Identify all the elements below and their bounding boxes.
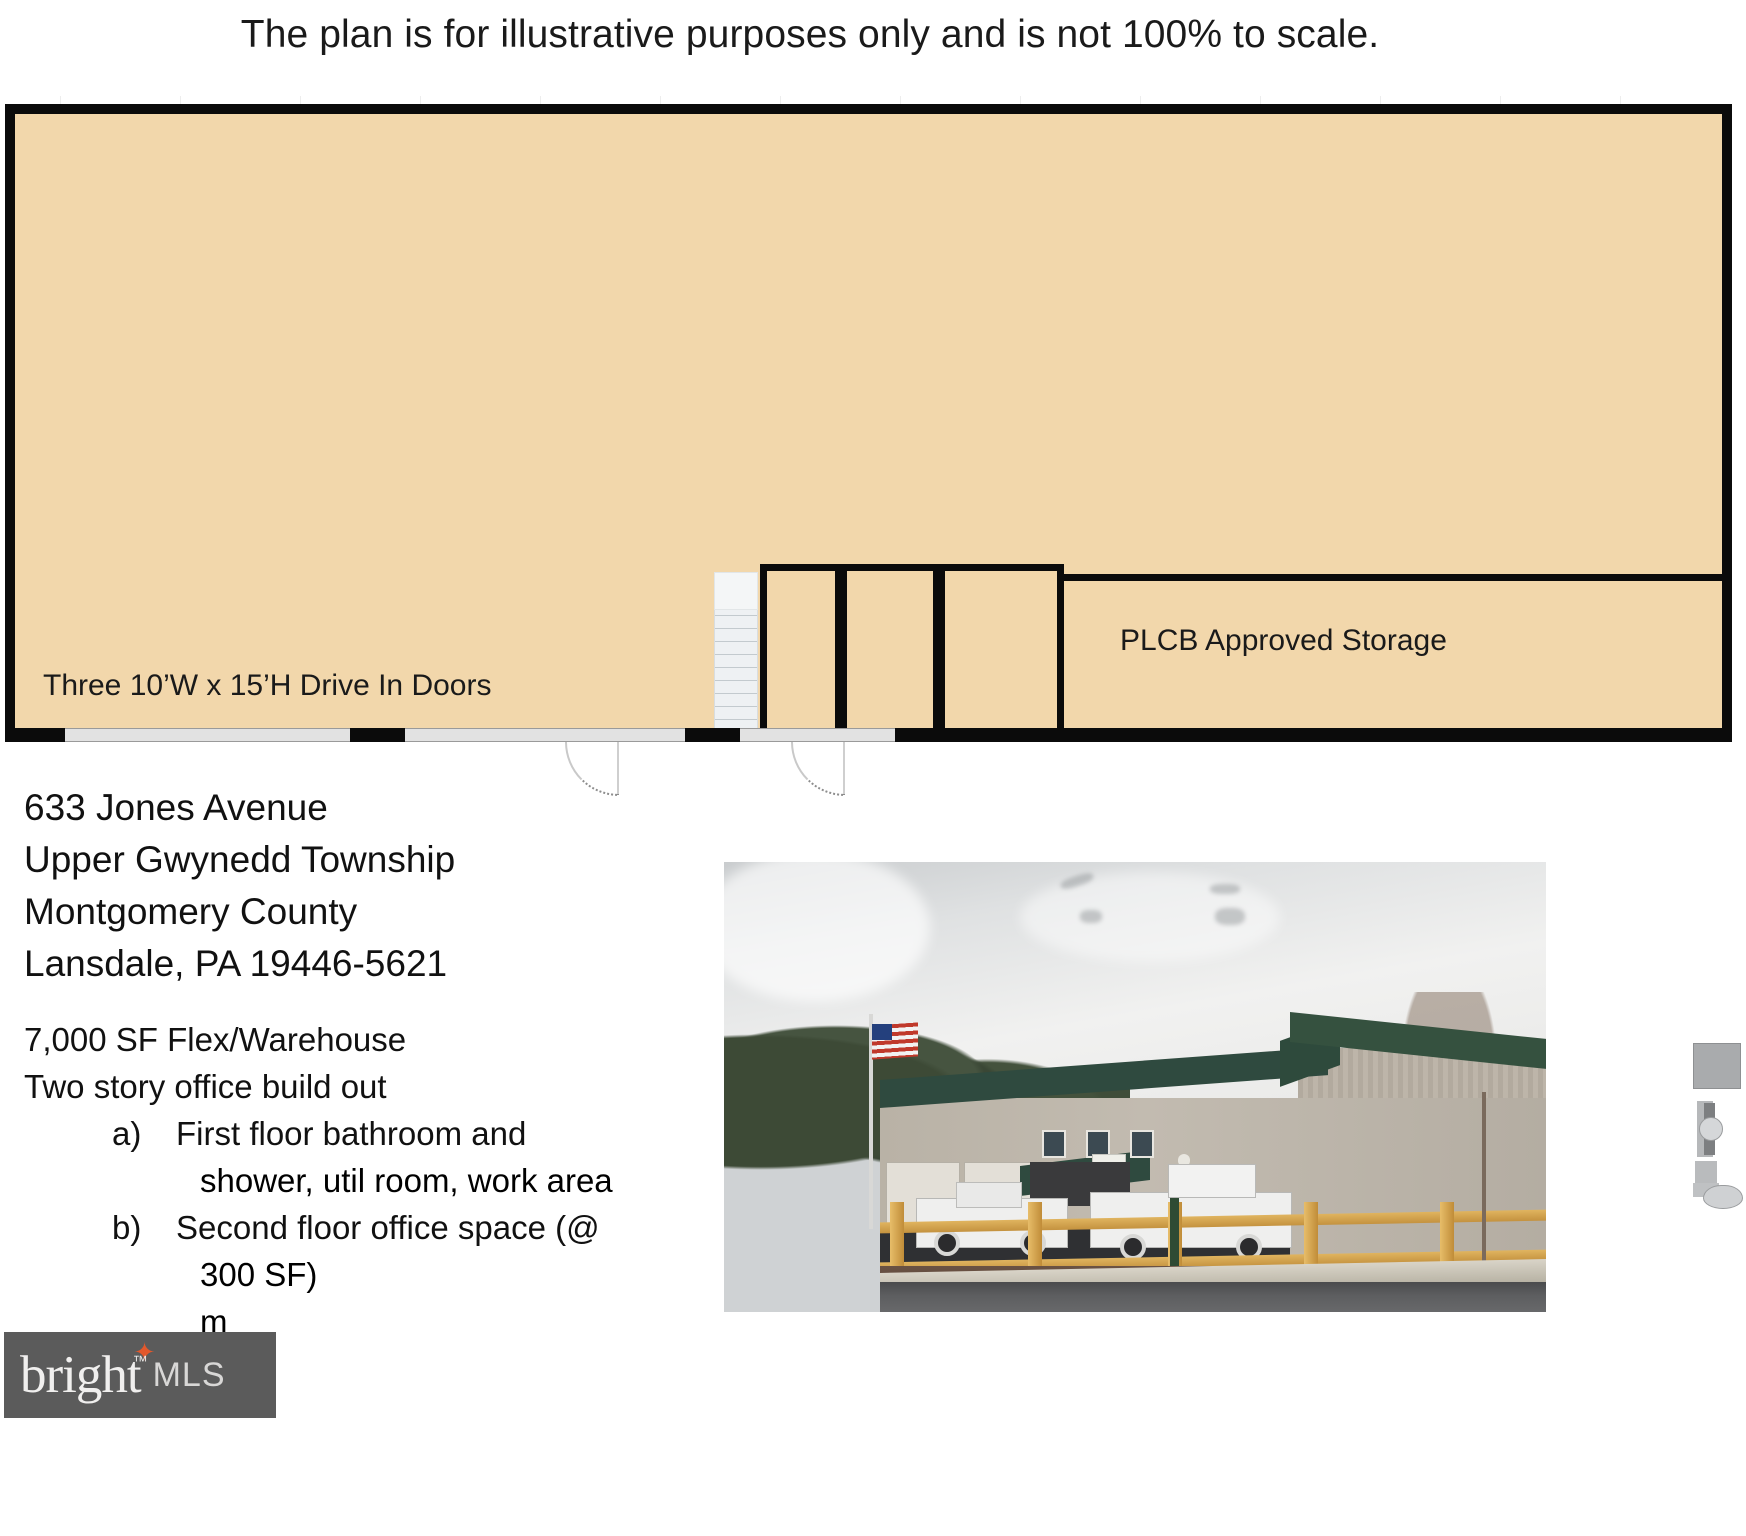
wet-road [880, 1282, 1546, 1312]
door-swing-arc-2 [791, 742, 845, 796]
bullet-marker-a: a) [24, 1110, 176, 1157]
page-title: The plan is for illustrative purposes on… [0, 12, 1620, 59]
bullet-text-a: First floor bathroom and [176, 1110, 714, 1157]
flag-canton [872, 1024, 892, 1040]
photo-artifact [1210, 884, 1240, 894]
list-item: b) Second floor office space (@ [24, 1204, 714, 1251]
address-line-1: 633 Jones Avenue [24, 782, 714, 834]
pickup-truck-cab [1168, 1164, 1256, 1198]
photo-left-margin [720, 862, 724, 1312]
bullet-continuation-b: 300 SF) [24, 1251, 714, 1298]
property-details: 633 Jones Avenue Upper Gwynedd Township … [24, 782, 714, 1345]
spec-block: 7,000 SF Flex/Warehouse Two story office… [24, 1016, 714, 1345]
trademark-icon: ™ [133, 1353, 147, 1370]
spec-line-size: 7,000 SF Flex/Warehouse [24, 1016, 714, 1063]
address-line-3: Montgomery County [24, 886, 714, 938]
floor-plan-diagram: Three 10’W x 15’H Drive In Doors PLCB Ap… [5, 104, 1743, 794]
plcb-storage-label: PLCB Approved Storage [1120, 624, 1447, 658]
bullet-continuation-a: shower, util room, work area [24, 1157, 714, 1204]
sink-bowl-icon [1699, 1117, 1723, 1141]
drive-in-doors-label: Three 10’W x 15’H Drive In Doors [43, 669, 491, 703]
bullet-marker-b: b) [24, 1204, 176, 1251]
toilet-tank-fixture [1695, 1161, 1717, 1183]
entry-door-2 [843, 728, 891, 742]
shower-fixture [1693, 1043, 1741, 1089]
work-area-room [938, 564, 1064, 742]
overhead-door-1 [65, 728, 350, 742]
photo-artifact [1080, 910, 1102, 923]
spec-line-office: Two story office build out [24, 1063, 714, 1110]
address-line-2: Upper Gwynedd Township [24, 834, 714, 886]
brightmls-watermark: bright ✦ ™ MLS [4, 1332, 276, 1418]
list-item: a) First floor bathroom and [24, 1110, 714, 1157]
bullet-text-b: Second floor office space (@ [176, 1204, 714, 1251]
watermark-brand: bright ✦ ™ [20, 1345, 141, 1405]
ruler-ticks [0, 96, 1740, 104]
exterior-bottom-wall [5, 728, 1732, 742]
toilet-bowl-icon [1703, 1185, 1743, 1209]
watermark-suffix: MLS [153, 1356, 226, 1395]
property-photo [720, 862, 1546, 1312]
utility-room [760, 564, 842, 742]
address-line-4: Lansdale, PA 19446-5621 [24, 938, 714, 990]
photo-artifact [1215, 908, 1245, 925]
bathroom-room [840, 564, 940, 742]
stair-landing [714, 572, 758, 610]
entry-door-1 [610, 728, 660, 742]
sapling-trunk [1482, 1092, 1486, 1272]
screenshot-root: The plan is for illustrative purposes on… [0, 0, 1746, 1536]
